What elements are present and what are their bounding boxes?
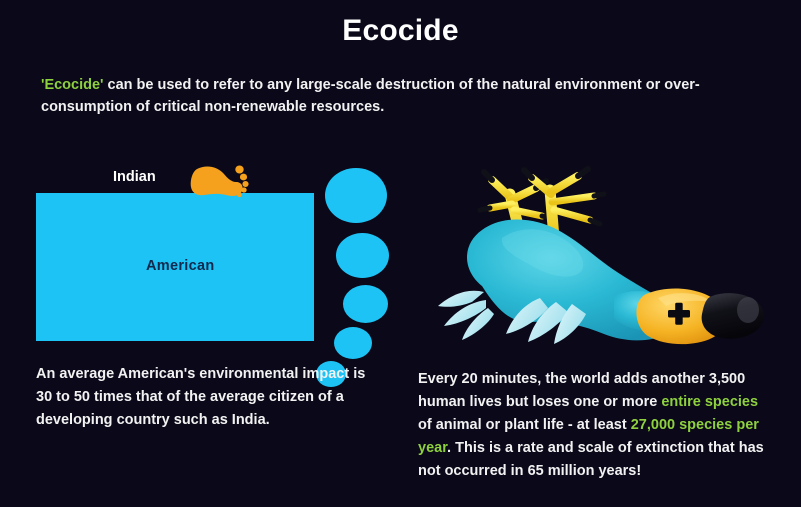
american-footprint-toe-3-icon — [343, 285, 388, 323]
extinction-caption-highlight-1: entire species — [661, 394, 758, 410]
extinction-caption-text-2: of animal or plant life - at least — [418, 417, 631, 433]
footprint-comparison-graphic: American Indian — [18, 155, 408, 355]
footprint-caption: An average American's environmental impa… — [36, 363, 381, 432]
american-footprint-toe-4-icon — [334, 327, 372, 359]
page-title: Ecocide — [0, 14, 801, 48]
extinction-caption: Every 20 minutes, the world adds another… — [418, 368, 768, 483]
intro-highlight: 'Ecocide' — [41, 77, 104, 93]
intro-paragraph: 'Ecocide' can be used to refer to any la… — [41, 74, 755, 118]
infographic-poster: Ecocide 'Ecocide' can be used to refer t… — [0, 0, 801, 507]
indian-footprint-icon — [188, 163, 250, 199]
intro-rest: can be used to refer to any large-scale … — [41, 77, 700, 115]
american-footprint-label: American — [146, 258, 215, 274]
american-footprint-toe-2-icon — [336, 233, 389, 278]
extinction-caption-text-4: . This is a rate and scale of extinction… — [418, 440, 764, 479]
dead-dodo-bird-icon — [418, 158, 768, 363]
dodo-tail-feathers — [438, 291, 494, 340]
american-footprint-toe-1-icon — [325, 168, 387, 223]
indian-footprint-label: Indian — [113, 169, 156, 185]
